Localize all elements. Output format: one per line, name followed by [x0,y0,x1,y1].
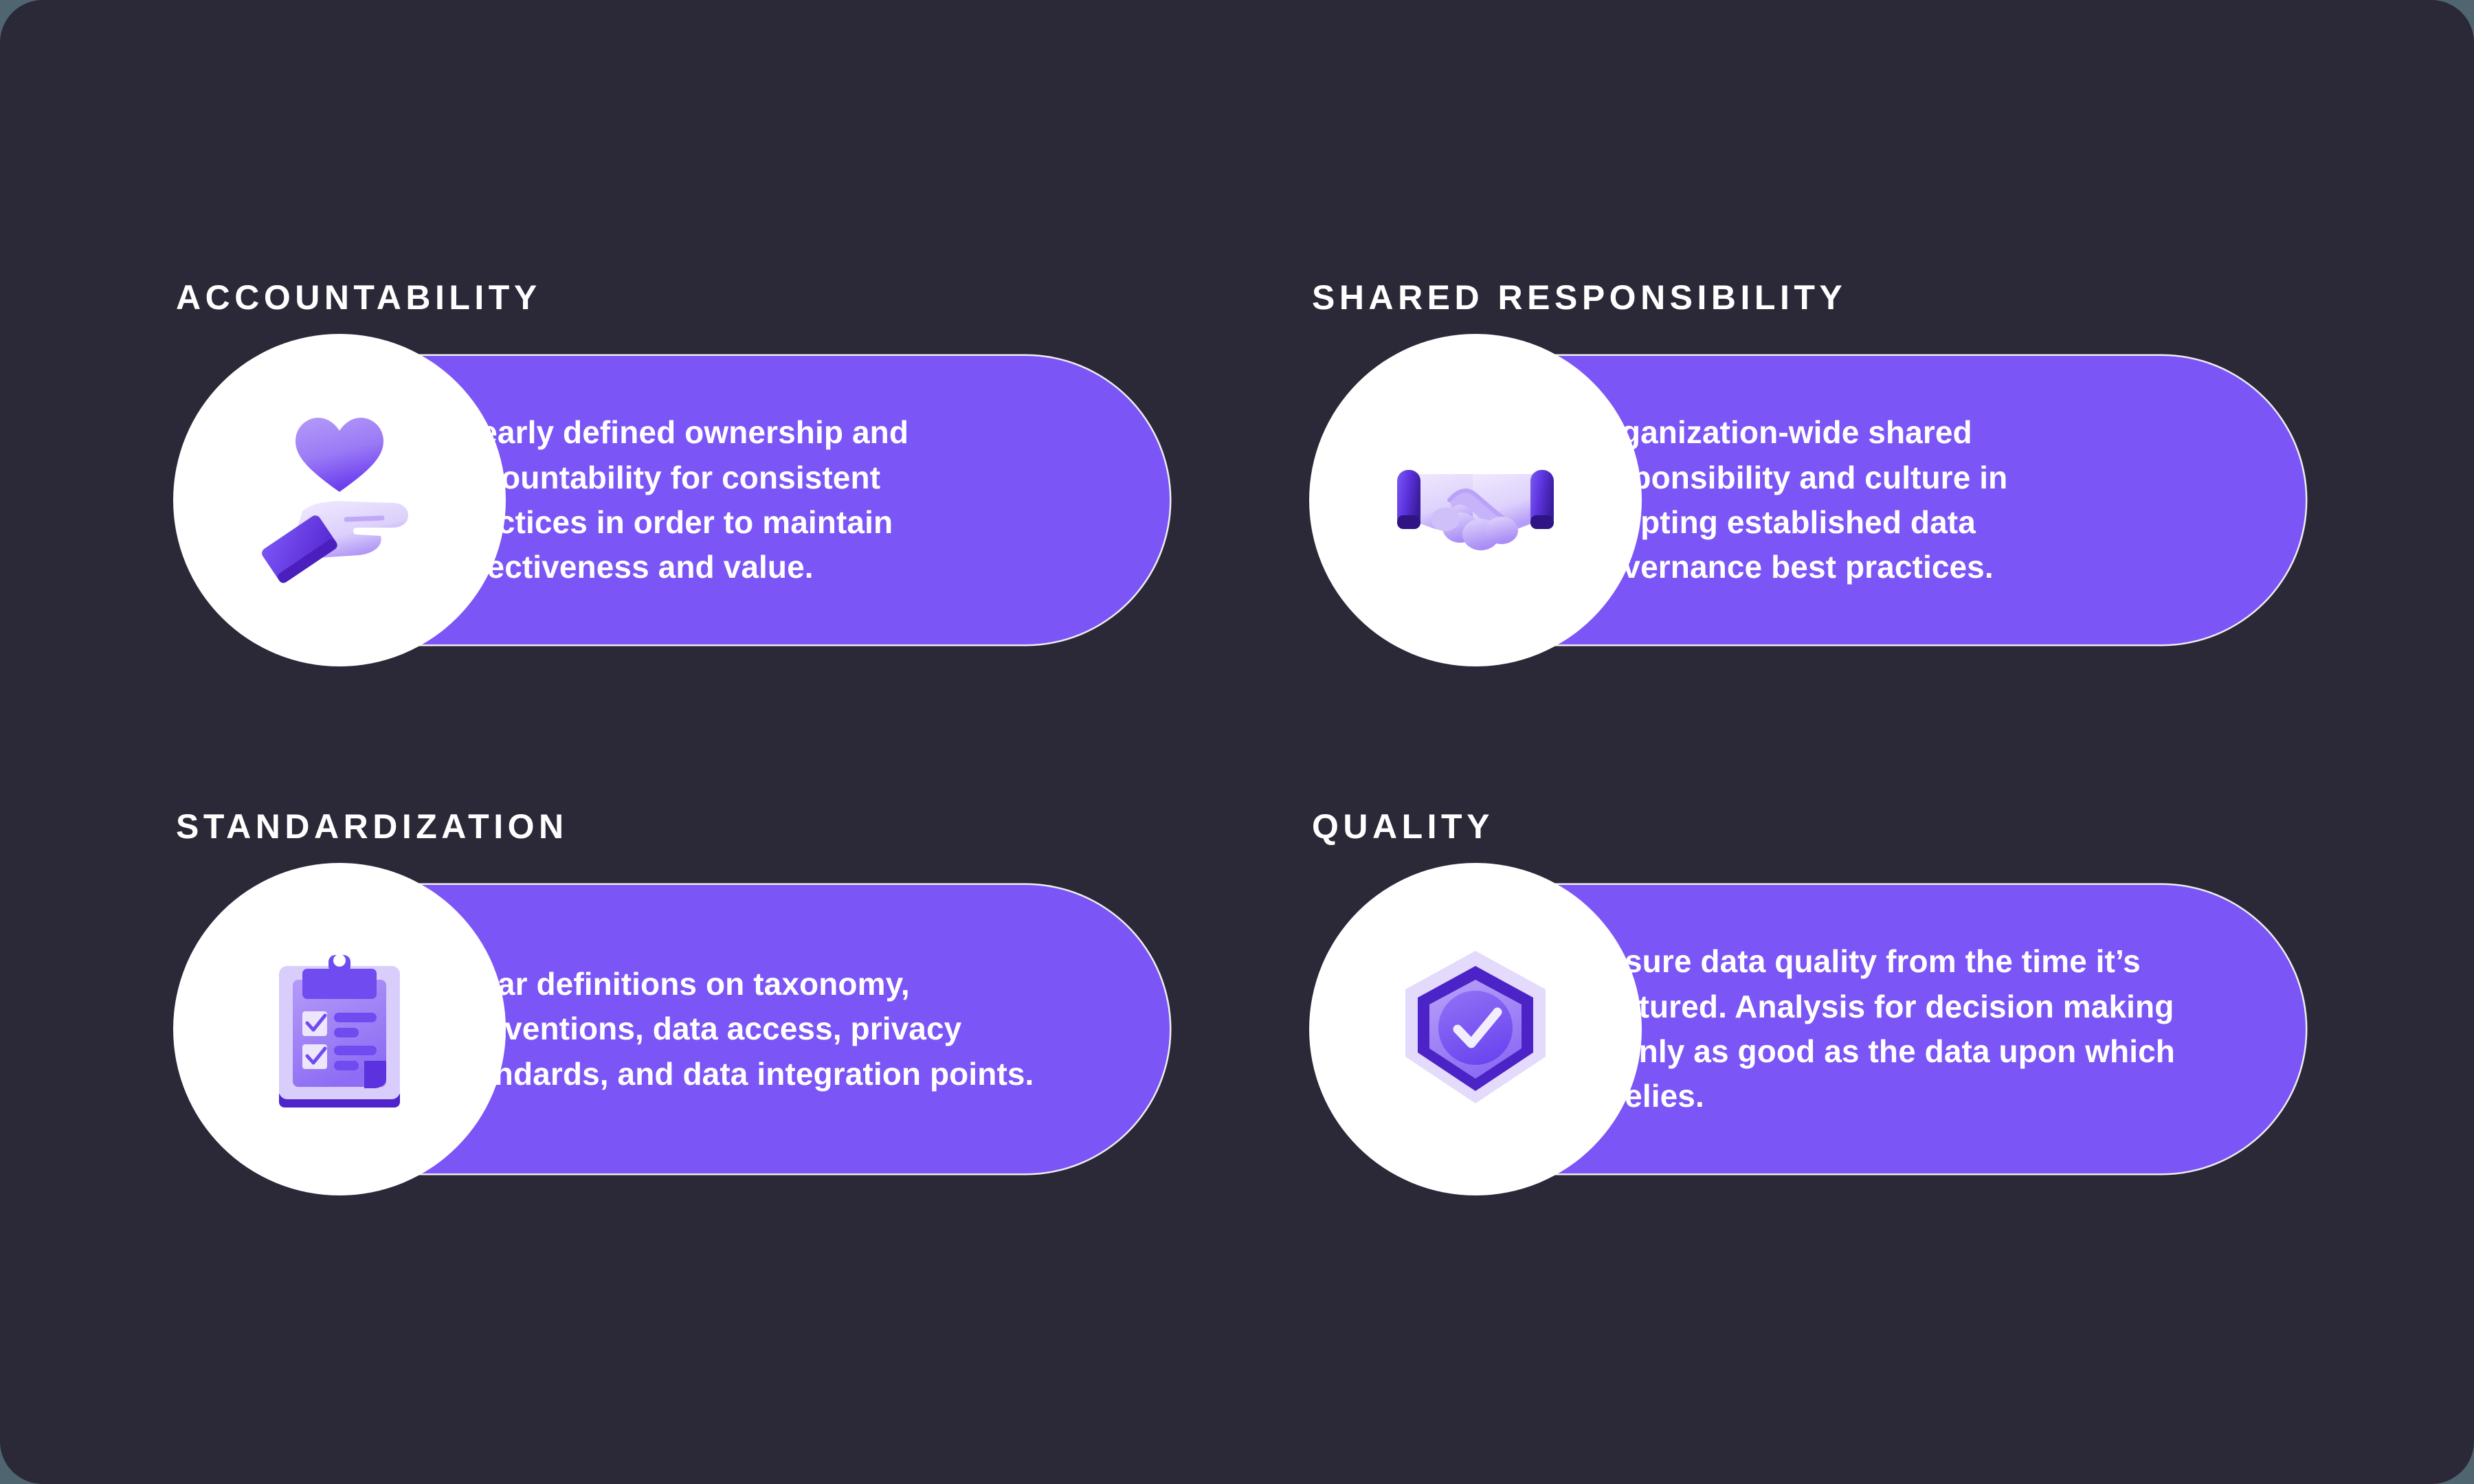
handshake-icon [1372,397,1579,603]
card-body-wrap: Organization-wide shared responsibility … [1584,356,2134,644]
card-shared-responsibility: SHARED RESPONSIBILITY Organization-wide … [1309,280,2306,644]
card-body-wrap: Clearly defined ownership and accountabi… [448,356,1018,644]
card-body-text: Clearly defined ownership and accountabi… [448,410,1018,589]
card-heading: STANDARDIZATION [176,809,1170,844]
card-body-text: Clear definitions on taxonomy, conventio… [448,962,1053,1097]
card-heading: ACCOUNTABILITY [176,280,1170,315]
clipboard-checklist-icon [236,926,443,1132]
heart-in-hand-icon [236,397,443,603]
infographic-canvas: ACCOUNTABILITY Clearly defined ownership… [0,0,2474,1484]
card-heading: QUALITY [1312,809,2306,844]
shield-check-icon [1372,926,1579,1132]
card-accountability: ACCOUNTABILITY Clearly defined ownership… [173,280,1170,644]
card-body-text: Organization-wide shared responsibility … [1584,410,2134,589]
card-body-wrap: Clear definitions on taxonomy, conventio… [448,885,1053,1173]
card-body-text: Ensure data quality from the time it’s c… [1584,939,2189,1118]
card-standardization: STANDARDIZATION Clear definitions on tax… [173,809,1170,1173]
card-heading: SHARED RESPONSIBILITY [1312,280,2306,315]
card-pill: Clearly defined ownership and accountabi… [173,356,1170,644]
card-quality: QUALITY Ensure data quality from the tim… [1309,809,2306,1173]
screenshot-stage: ACCOUNTABILITY Clearly defined ownership… [0,0,2474,1484]
card-pill: Ensure data quality from the time it’s c… [1309,885,2306,1173]
card-body-wrap: Ensure data quality from the time it’s c… [1584,885,2189,1173]
principles-grid: ACCOUNTABILITY Clearly defined ownership… [0,0,2474,1484]
card-pill: Clear definitions on taxonomy, conventio… [173,885,1170,1173]
card-pill: Organization-wide shared responsibility … [1309,356,2306,644]
